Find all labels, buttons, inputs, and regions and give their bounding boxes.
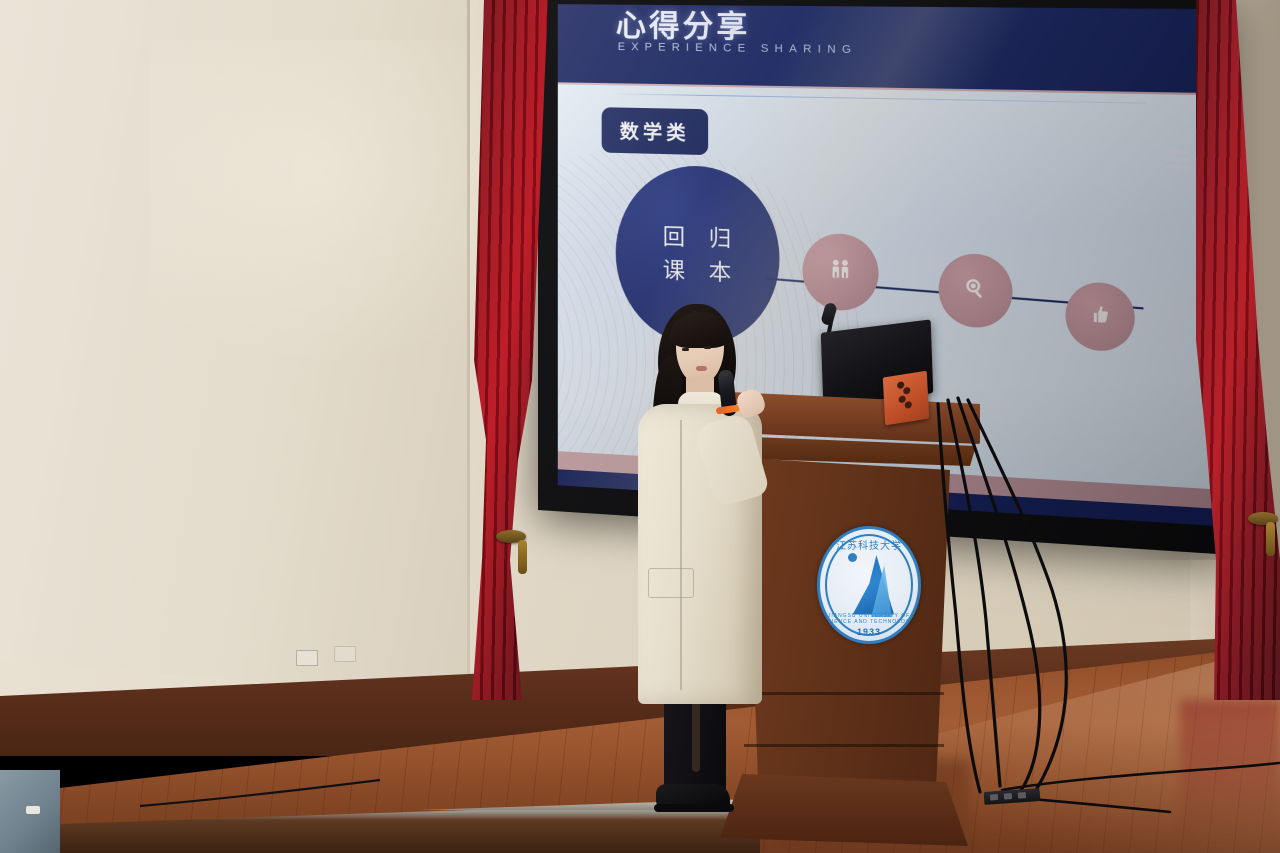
power-outlet: [334, 646, 356, 662]
stage-edge-marker: [26, 806, 40, 814]
leg-gap: [692, 700, 700, 772]
right-curtain-tassel: [1266, 522, 1275, 556]
diagram-step-node-3: [1066, 281, 1135, 352]
mouth: [696, 366, 707, 371]
speaker-nameplate: [883, 371, 929, 426]
curtain-floor-reflection: [1180, 700, 1280, 840]
eye-left: [682, 348, 689, 351]
university-emblem: 江苏科技大学 JIANGSU UNIVERSITY OF SCIENCE AND…: [817, 526, 921, 644]
left-curtain-tassel: [518, 540, 527, 574]
shoe-sole: [654, 804, 734, 812]
thumbs-up-icon: [1088, 302, 1113, 332]
diagram-step-node-1: [802, 233, 878, 312]
podium-panel-line: [746, 692, 944, 695]
emblem-dot: [848, 553, 857, 562]
hamburger-menu-icon[interactable]: [1164, 150, 1189, 173]
coat-seam: [680, 420, 682, 690]
emblem-arc-bottom: JIANGSU UNIVERSITY OF SCIENCE AND TECHNO…: [820, 613, 918, 625]
two-people-icon: [827, 256, 854, 289]
slide-subtitle: EXPERIENCE SHARING: [618, 41, 858, 56]
emblem-year: 1933: [820, 627, 918, 637]
diagram-step-node-2: [939, 253, 1013, 329]
magnifier-icon: [962, 275, 988, 306]
speaker-person: [620, 300, 770, 820]
nameplate-calligraphy: [895, 379, 915, 418]
slide-accent-line: [610, 93, 1146, 103]
presentation-scene: 心得分享 EXPERIENCE SHARING 数学类 回 归 课 本: [0, 0, 1280, 853]
slide-category-tag: 数学类: [602, 107, 708, 155]
coat-pocket: [648, 568, 694, 598]
emblem-arc-top: 江苏科技大学: [820, 537, 918, 552]
power-outlet: [296, 650, 318, 666]
diagram-main-node-line1: 回 归: [655, 221, 740, 257]
podium-panel-line: [744, 744, 944, 747]
wall-corner-seam: [467, 0, 470, 690]
eye-right: [704, 346, 711, 349]
diagram-main-node-line2: 课 本: [655, 254, 740, 291]
